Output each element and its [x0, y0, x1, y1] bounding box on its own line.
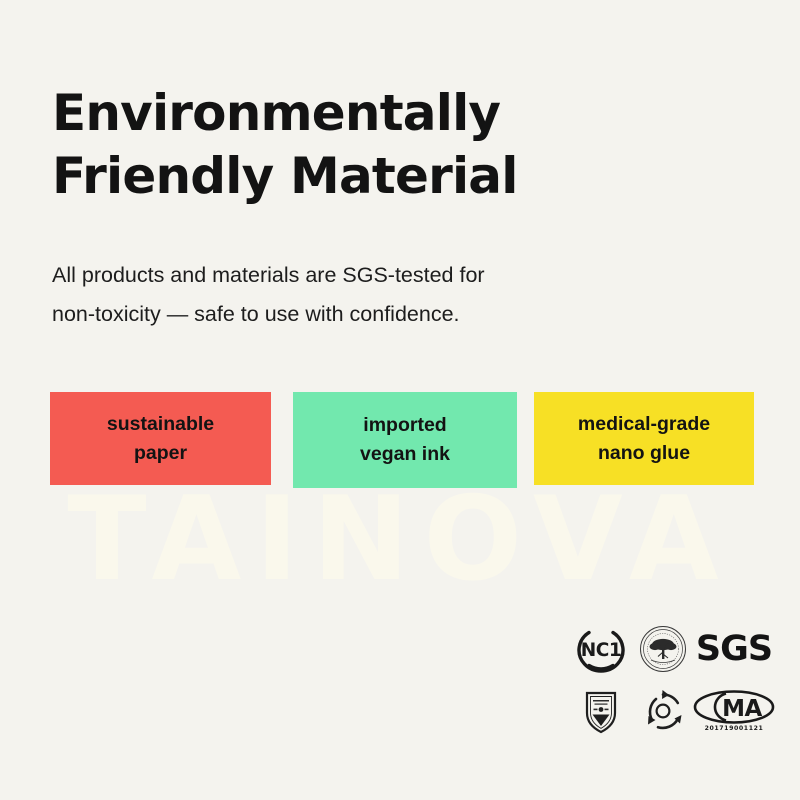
promo-panel: TAINOVA Environmentally Friendly Materia…	[0, 0, 800, 800]
shield-badge-icon	[572, 683, 630, 739]
material-tag-label: sustainable paper	[107, 410, 214, 468]
brand-watermark: TAINOVA	[0, 482, 800, 598]
sgs-logo-text: SGS	[696, 632, 772, 667]
material-tag-medical-grade-nano-glue: medical-grade nano glue	[534, 392, 754, 485]
svg-text:MA: MA	[722, 696, 762, 722]
material-tag-label-line-2: vegan ink	[360, 443, 450, 465]
material-tag-imported-vegan-ink: imported vegan ink	[293, 392, 517, 488]
material-tag-list: sustainable paper imported vegan ink med…	[50, 392, 754, 488]
material-tag-label-line-1: imported	[363, 414, 446, 436]
page-title: Environmentally Friendly Material	[52, 82, 702, 208]
material-tag-label: medical-grade nano glue	[578, 410, 710, 468]
page-subtitle-line-2: non-toxicity — safe to use with confiden…	[52, 295, 672, 334]
page-title-line-1: Environmentally	[52, 82, 702, 145]
nc1-icon: NC1	[572, 623, 630, 675]
recycling-symbol-icon	[634, 683, 692, 739]
page-subtitle: All products and materials are SGS-teste…	[52, 256, 672, 334]
material-tag-label-line-2: paper	[134, 442, 187, 464]
cma-logo: MA 201719001121	[692, 683, 776, 739]
cma-certificate-number: 201719001121	[705, 726, 764, 732]
sgs-logo: SGS	[694, 623, 774, 675]
page-title-line-2: Friendly Material	[52, 145, 702, 208]
certification-badge-group: NC1	[572, 620, 780, 750]
material-tag-label-line-2: nano glue	[598, 442, 690, 464]
forest-tree-seal-icon	[634, 623, 692, 675]
material-tag-label-line-1: medical-grade	[578, 413, 710, 435]
material-tag-label-line-1: sustainable	[107, 413, 214, 435]
certification-badge-row-2: MA 201719001121	[572, 682, 780, 740]
page-subtitle-line-1: All products and materials are SGS-teste…	[52, 256, 672, 295]
certification-badge-row-1: NC1	[572, 620, 780, 678]
svg-text:NC1: NC1	[581, 640, 621, 661]
material-tag-label: imported vegan ink	[360, 411, 450, 469]
material-tag-sustainable-paper: sustainable paper	[50, 392, 271, 485]
